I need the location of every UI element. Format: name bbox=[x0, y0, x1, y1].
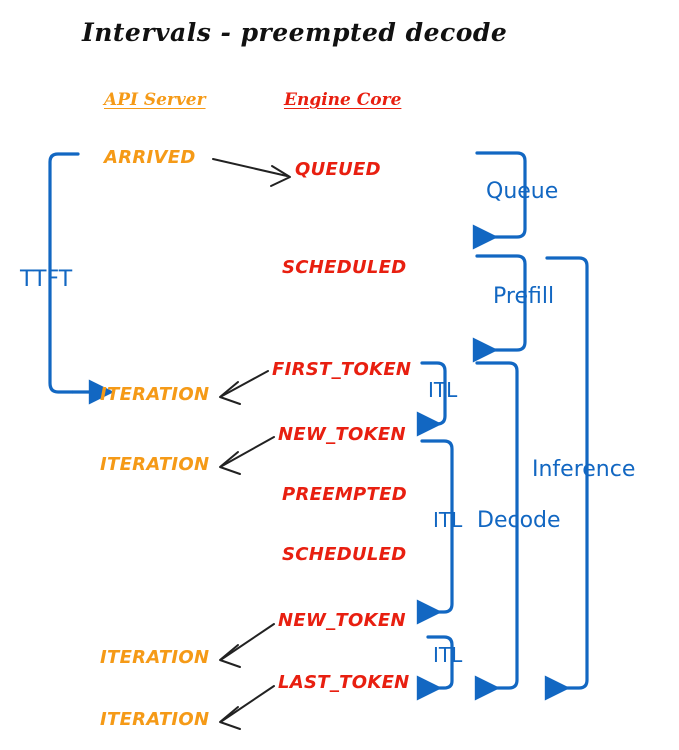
event-scheduled-1: SCHEDULED bbox=[282, 257, 407, 278]
transition-arrow-arrived-queued bbox=[213, 159, 290, 186]
column-header-engine-core: Engine Core bbox=[284, 90, 401, 110]
interval-label-prefill: Prefill bbox=[493, 284, 554, 309]
event-preempted: PREEMPTED bbox=[282, 484, 407, 505]
interval-label-queue: Queue bbox=[486, 179, 558, 204]
interval-label-decode: Decode bbox=[477, 508, 561, 533]
column-header-api-server: API Server bbox=[104, 90, 206, 110]
event-iteration-3: ITERATION bbox=[100, 647, 209, 668]
transition-arrow-lasttoken-iteration bbox=[220, 686, 274, 729]
interval-label-itl-1: ITL bbox=[428, 378, 457, 402]
event-new-token-2: NEW_TOKEN bbox=[278, 610, 406, 631]
event-first-token: FIRST_TOKEN bbox=[272, 359, 411, 380]
interval-label-itl-2: ITL bbox=[433, 508, 462, 532]
event-last-token: LAST_TOKEN bbox=[278, 672, 410, 693]
transition-arrow-newtoken-iteration-1 bbox=[220, 437, 274, 474]
transition-arrow-newtoken-iteration-2 bbox=[220, 624, 274, 667]
event-new-token-1: NEW_TOKEN bbox=[278, 424, 406, 445]
interval-label-inference: Inference bbox=[532, 457, 635, 482]
interval-label-itl-3: ITL bbox=[433, 643, 462, 667]
interval-label-ttft: TTFT bbox=[20, 267, 72, 292]
event-iteration-2: ITERATION bbox=[100, 454, 209, 475]
page-title: Intervals - preempted decode bbox=[82, 18, 507, 47]
event-iteration-1: ITERATION bbox=[100, 384, 209, 405]
event-scheduled-2: SCHEDULED bbox=[282, 544, 407, 565]
event-iteration-4: ITERATION bbox=[100, 709, 209, 730]
transition-arrow-firsttoken-iteration bbox=[220, 371, 268, 404]
event-queued: QUEUED bbox=[295, 159, 381, 180]
diagram-canvas: Intervals - preempted decode API Server … bbox=[0, 0, 679, 750]
event-arrived: ARRIVED bbox=[104, 147, 196, 168]
